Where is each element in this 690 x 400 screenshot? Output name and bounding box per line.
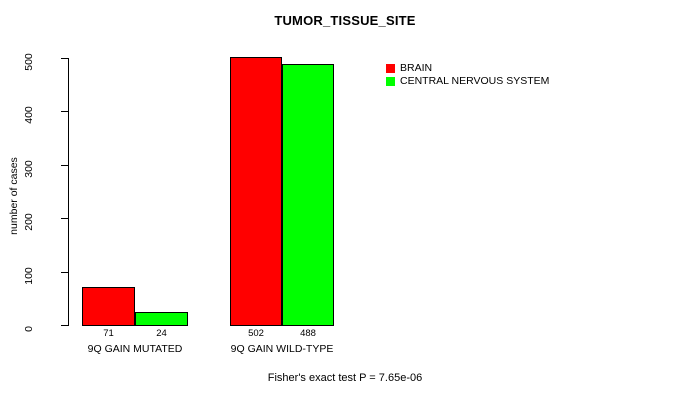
y-tick-label-text: 200 bbox=[23, 213, 35, 231]
y-tick-label-text: 300 bbox=[23, 160, 35, 178]
legend-color-swatch bbox=[386, 77, 395, 86]
y-tick-label-text: 100 bbox=[23, 267, 35, 285]
chart-canvas: TUMOR_TISSUE_SITE 0100200300400500 numbe… bbox=[0, 0, 690, 400]
page-title: TUMOR_TISSUE_SITE bbox=[0, 13, 690, 28]
y-tick-label: 400 bbox=[0, 105, 57, 117]
legend-item-label: BRAIN bbox=[400, 63, 432, 74]
legend: BRAINCENTRAL NERVOUS SYSTEM bbox=[386, 62, 549, 88]
y-axis-title-label: number of cases bbox=[8, 157, 20, 235]
y-tick-label-text: 400 bbox=[23, 106, 35, 124]
y-tick-label: 500 bbox=[0, 52, 57, 64]
y-tick-mark bbox=[61, 272, 68, 273]
y-tick-mark bbox=[61, 325, 68, 326]
bar-value-label: 24 bbox=[135, 328, 188, 339]
y-axis-line bbox=[68, 58, 69, 326]
bar[interactable] bbox=[230, 57, 282, 326]
y-axis-title: number of cases bbox=[3, 168, 19, 228]
bar[interactable] bbox=[135, 312, 188, 326]
bar[interactable] bbox=[82, 287, 135, 326]
y-tick-mark bbox=[61, 218, 68, 219]
legend-item[interactable]: CENTRAL NERVOUS SYSTEM bbox=[386, 75, 549, 88]
bar-value-label: 71 bbox=[82, 328, 135, 339]
y-tick-label-text: 0 bbox=[23, 326, 35, 332]
y-tick-label: 100 bbox=[0, 266, 57, 278]
x-axis-group-label: 9Q GAIN WILD-TYPE bbox=[192, 343, 372, 355]
legend-item-label: CENTRAL NERVOUS SYSTEM bbox=[400, 76, 549, 87]
legend-item[interactable]: BRAIN bbox=[386, 62, 549, 75]
y-tick-label: 0 bbox=[0, 319, 57, 331]
y-tick-mark bbox=[61, 165, 68, 166]
bar-value-label: 502 bbox=[230, 328, 282, 339]
bar[interactable] bbox=[282, 64, 334, 326]
bar-value-label: 488 bbox=[282, 328, 334, 339]
y-tick-label-text: 500 bbox=[23, 53, 35, 71]
statistical-annotation: Fisher's exact test P = 7.65e-06 bbox=[0, 372, 690, 384]
y-tick-mark bbox=[61, 58, 68, 59]
legend-color-swatch bbox=[386, 64, 395, 73]
y-tick-mark bbox=[61, 111, 68, 112]
